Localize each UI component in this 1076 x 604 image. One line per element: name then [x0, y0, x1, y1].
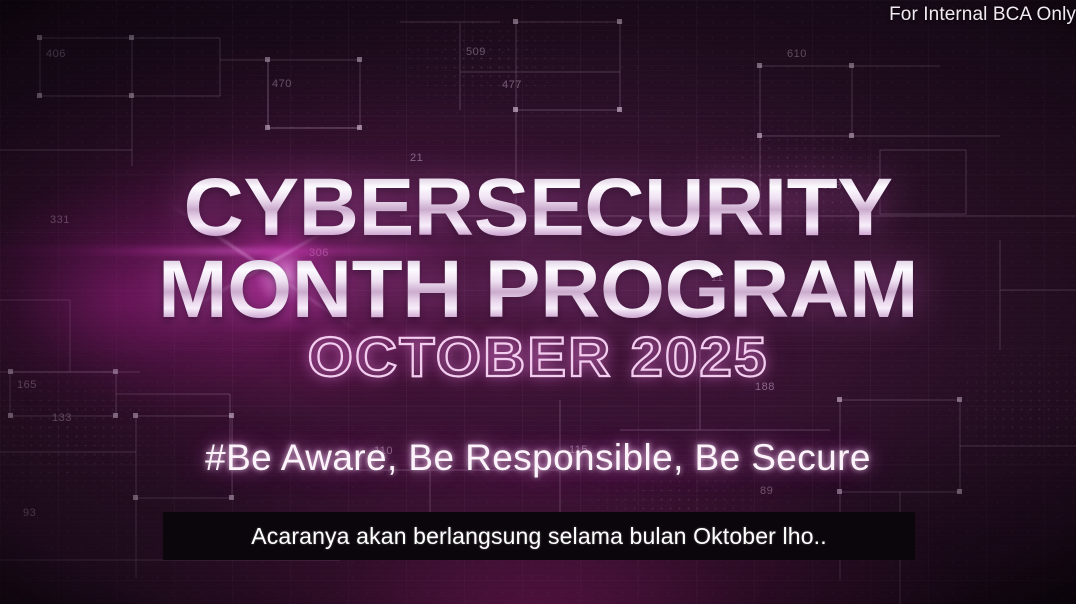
- caption-text: Acaranya akan berlangsung selama bulan O…: [251, 523, 827, 550]
- event-date-subtitle: OCTOBER 2025: [0, 324, 1076, 389]
- page-title-line-2: MONTH PROGRAM: [0, 250, 1076, 330]
- caption-bar: Acaranya akan berlangsung selama bulan O…: [163, 512, 915, 560]
- hero-tagline: #Be Aware, Be Responsible, Be Secure: [0, 437, 1076, 479]
- video-frame: 4064705094776103313063281651331881101158…: [0, 0, 1076, 604]
- page-title-line-1: CYBERSECURITY: [0, 168, 1076, 248]
- internal-use-notice: For Internal BCA Only: [889, 4, 1076, 26]
- hero-title-block: CYBERSECURITY MONTH PROGRAM: [0, 168, 1076, 331]
